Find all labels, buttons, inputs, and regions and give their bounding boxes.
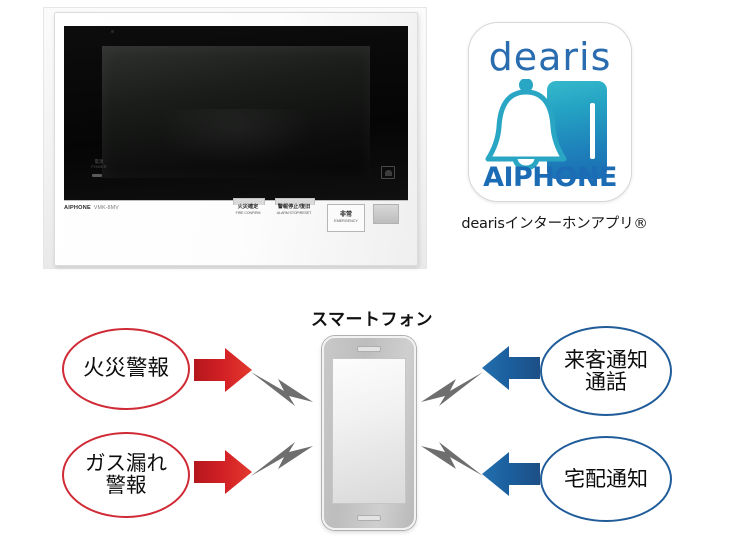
device-body: 電源 POWER AIPHONEVMK-8MV 火災確定 FIRE CONFIR… [54, 12, 418, 266]
phone-home-button-icon [357, 515, 381, 521]
intercom-device-photo: 電源 POWER AIPHONEVMK-8MV 火災確定 FIRE CONFIR… [44, 8, 426, 268]
device-model: VMK-8MV [94, 205, 119, 211]
bubble-line: 火災警報 [83, 358, 169, 381]
bubble-delivery-notice: 宅配通知 [540, 436, 672, 522]
arrow-left-delivery [480, 450, 542, 498]
card-bar-shape [590, 103, 595, 159]
aiphone-wordmark: AIPHONE [469, 162, 631, 193]
lightning-bolt-gas-to-phone [248, 440, 316, 482]
power-label: 電源 POWER [82, 160, 116, 169]
bubble-line: 通話 [585, 371, 627, 393]
home-icon[interactable] [381, 166, 395, 179]
device-brand-row: AIPHONEVMK-8MV [64, 205, 119, 211]
dearis-wordmark: dearis [469, 35, 631, 79]
button-caption: 火災確定 FIRE CONFIRM [229, 205, 267, 215]
button-label-en: ALARM STOP/RESET [269, 211, 319, 215]
arrow-right-fire [192, 346, 254, 394]
dearis-app-icon[interactable]: dearis AIPHONE [468, 22, 632, 202]
button-label-en: EMERGENCY [334, 219, 358, 223]
power-lamp-indicator [92, 174, 102, 177]
device-button-emergency[interactable]: 非常 EMERGENCY [327, 204, 365, 232]
device-side-slot [373, 204, 399, 224]
device-screen [102, 46, 370, 178]
dearis-app-icon-block: dearis AIPHONE dearisインターホンアプリ® [452, 14, 657, 254]
button-label-en: FIRE CONFIRM [229, 211, 267, 215]
arrow-right-gas [192, 448, 254, 496]
home-icon-glyph [385, 170, 392, 176]
bubble-fire-alarm: 火災警報 [62, 328, 190, 410]
phone-screen [332, 358, 406, 504]
bubble-line: ガス漏れ [85, 453, 167, 475]
button-caption: 警報停止/復旧 ALARM STOP/RESET [269, 205, 319, 215]
notification-flow-diagram: スマートフォン 火災警報 ガス漏れ 警報 [0, 288, 736, 560]
device-brand: AIPHONE [64, 205, 91, 211]
bubble-line: 宅配通知 [564, 468, 648, 490]
app-caption: dearisインターホンアプリ® [452, 212, 657, 233]
bubble-gas-leak-alarm: ガス漏れ 警報 [62, 432, 190, 518]
camera-dot-icon [111, 30, 114, 33]
device-bezel: 電源 POWER [64, 26, 408, 200]
bubble-visitor-notice: 来客通知 通話 [540, 326, 672, 416]
button-label-jp: 非常 [340, 212, 352, 219]
power-label-en: POWER [82, 165, 116, 169]
lightning-bolt-fire-to-phone [248, 366, 316, 408]
smartphone-illustration [322, 336, 416, 530]
phone-speaker-icon [357, 346, 381, 352]
bubble-line: 来客通知 [564, 349, 648, 371]
lightning-bolt-visitor-to-phone [418, 366, 486, 408]
smartphone-label: スマートフォン [292, 305, 452, 330]
arrow-left-visitor [480, 344, 542, 392]
bubble-line: 警報 [106, 475, 147, 497]
lightning-bolt-delivery-to-phone [418, 440, 486, 482]
